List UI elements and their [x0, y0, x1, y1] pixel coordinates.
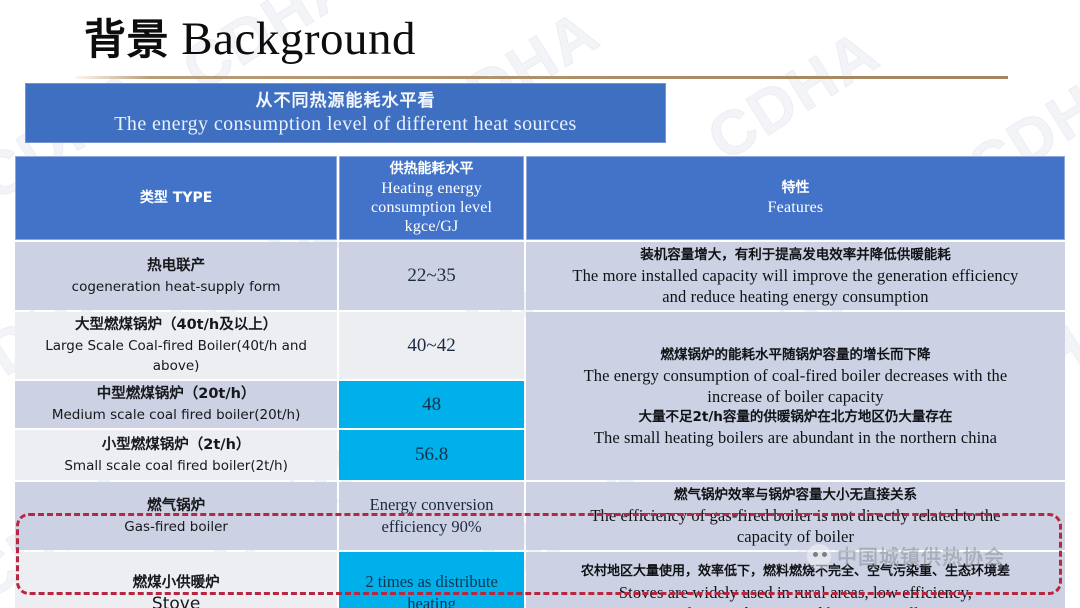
type-cn: 燃煤小供暖炉 [21, 573, 331, 594]
type-en: Large Scale Coal-fired Boiler(40t/h and … [21, 336, 331, 376]
type-cn: 燃气锅炉 [21, 496, 331, 517]
cell-features-cogeneration: 装机容量增大，有利于提高发电效率并降低供暖能耗 The more install… [526, 242, 1065, 310]
page-title-cn: 背景 [84, 15, 169, 64]
column-header-features-cn: 特性 [533, 179, 1058, 198]
feature-en: The small heating boilers are abundant i… [532, 427, 1059, 448]
table-row-highlighted: 燃煤小供暖炉 Stove 2 times as distribute heati… [15, 552, 1065, 608]
feature-cn: 农村地区大量使用，效率低下，燃料燃烧不完全、空气污染重、生态环境差 [532, 562, 1059, 582]
type-cn: 热电联产 [21, 256, 331, 277]
feature-cn: 装机容量增大，有利于提高发电效率并降低供暖能耗 [532, 245, 1059, 265]
cell-features-gas-fired-boiler: 燃气锅炉效率与锅炉容量大小无直接关系 The efficiency of gas… [526, 482, 1065, 550]
feature-en: capacity of boiler [532, 526, 1059, 547]
feature-cn: 燃煤锅炉的能耗水平随锅炉容量的增长而下降 [532, 345, 1059, 365]
column-header-energy-level-en3: kgce/GJ [346, 217, 517, 236]
column-header-type-label: 类型 TYPE [22, 189, 330, 208]
feature-en: Stoves are widely used in rural areas, l… [532, 582, 1059, 603]
table-header-row: 类型 TYPE 供热能耗水平 Heating energy consumptio… [15, 156, 1065, 240]
cell-level-stove: 2 times as distribute heating [339, 552, 524, 608]
type-cn: 大型燃煤锅炉（40t/h及以上） [21, 315, 331, 336]
level-value-highlighted: 48 [345, 393, 518, 417]
cell-type-stove: 燃煤小供暖炉 Stove [15, 552, 337, 608]
level-value: 22~35 [345, 264, 518, 288]
cell-features-coal-boilers: 燃煤锅炉的能耗水平随锅炉容量的增长而下降 The energy consumpt… [526, 312, 1065, 480]
column-header-energy-level-cn: 供热能耗水平 [346, 160, 517, 179]
feature-en: The more installed capacity will improve… [532, 265, 1059, 286]
type-en: cogeneration heat-supply form [21, 277, 331, 297]
table-row: 燃气锅炉 Gas-fired boiler Energy conversion … [15, 482, 1065, 550]
level-value-highlighted: 56.8 [345, 443, 518, 467]
cell-type-large-coal-boiler: 大型燃煤锅炉（40t/h及以上） Large Scale Coal-fired … [15, 312, 337, 379]
cell-level-small-coal-boiler: 56.8 [339, 430, 524, 480]
title-divider [76, 76, 1008, 79]
feature-cn: 燃气锅炉效率与锅炉容量大小无直接关系 [532, 485, 1059, 505]
feature-en: increase of boiler capacity [532, 386, 1059, 407]
table-header: 类型 TYPE 供热能耗水平 Heating energy consumptio… [15, 156, 1065, 240]
type-cn: 小型燃煤锅炉（2t/h） [21, 435, 331, 456]
cell-level-gas-fired-boiler: Energy conversion efficiency 90% [339, 482, 524, 550]
column-header-energy-level-en1: Heating energy [346, 179, 517, 198]
table-row: 大型燃煤锅炉（40t/h及以上） Large Scale Coal-fired … [15, 312, 1065, 379]
level-value-line1: 2 times as distribute [345, 571, 518, 593]
column-header-energy-level-en2: consumption level [346, 198, 517, 217]
column-header-features: 特性 Features [526, 156, 1065, 240]
table-row: 热电联产 cogeneration heat-supply form 22~35… [15, 242, 1065, 310]
cell-features-stove: 农村地区大量使用，效率低下，燃料燃烧不完全、空气污染重、生态环境差 Stoves… [526, 552, 1065, 608]
heat-source-table: 类型 TYPE 供热能耗水平 Heating energy consumptio… [13, 154, 1067, 608]
feature-en: and reduce heating energy consumption [532, 286, 1059, 307]
type-en: Small scale coal fired boiler(2t/h) [21, 456, 331, 476]
table-body: 热电联产 cogeneration heat-supply form 22~35… [15, 242, 1065, 608]
cell-type-cogeneration: 热电联产 cogeneration heat-supply form [15, 242, 337, 310]
page-title-en: Background [181, 13, 416, 65]
column-header-energy-level: 供热能耗水平 Heating energy consumption level … [339, 156, 524, 240]
type-en: Stove [21, 594, 331, 608]
page-title: 背景 Background [84, 8, 416, 71]
cell-level-large-coal-boiler: 40~42 [339, 312, 524, 379]
level-value-line1: Energy conversion [345, 494, 518, 516]
cell-type-medium-coal-boiler: 中型燃煤锅炉（20t/h） Medium scale coal fired bo… [15, 381, 337, 428]
column-header-features-en: Features [533, 198, 1058, 217]
feature-en: The energy consumption of coal-fired boi… [532, 365, 1059, 386]
cell-level-cogeneration: 22~35 [339, 242, 524, 310]
section-banner-en: The energy consumption level of differen… [114, 112, 576, 136]
feature-en: The efficiency of gas-fired boiler is no… [532, 505, 1059, 526]
section-banner: 从不同热源能耗水平看 The energy consumption level … [25, 83, 666, 143]
cell-type-small-coal-boiler: 小型燃煤锅炉（2t/h） Small scale coal fired boil… [15, 430, 337, 480]
type-en: Gas-fired boiler [21, 517, 331, 537]
level-value-line2: efficiency 90% [345, 516, 518, 538]
feature-en: incomplete combustion and heavy air poll… [532, 603, 1059, 608]
level-value: 40~42 [345, 334, 518, 358]
column-header-type: 类型 TYPE [15, 156, 337, 240]
cell-type-gas-fired-boiler: 燃气锅炉 Gas-fired boiler [15, 482, 337, 550]
type-en: Medium scale coal fired boiler(20t/h) [21, 405, 331, 425]
feature-cn: 大量不足2t/h容量的供暖锅炉在北方地区仍大量存在 [532, 407, 1059, 427]
cdha-watermark: CDHA [695, 16, 891, 175]
type-cn: 中型燃煤锅炉（20t/h） [21, 384, 331, 405]
cell-level-medium-coal-boiler: 48 [339, 381, 524, 428]
section-banner-cn: 从不同热源能耗水平看 [256, 90, 436, 112]
level-value-line2: heating [345, 593, 518, 608]
